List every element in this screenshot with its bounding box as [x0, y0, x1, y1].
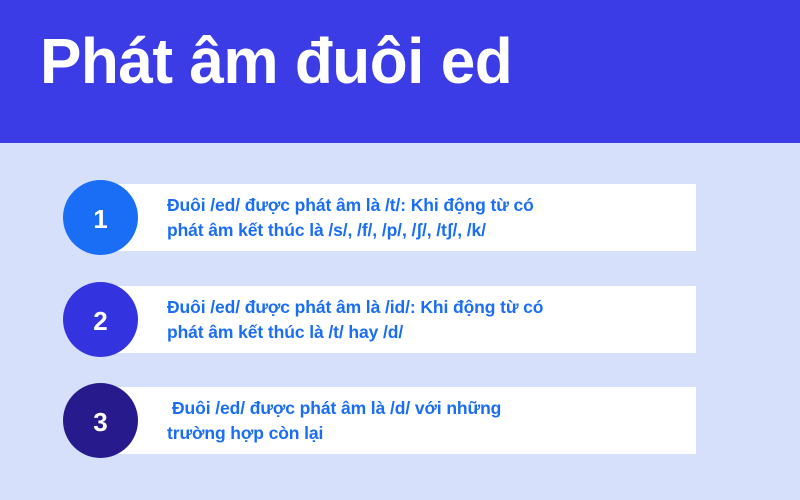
rule-card: Đuôi /ed/ được phát âm là /d/ với những …	[101, 387, 696, 454]
rule-card: Đuôi /ed/ được phát âm là /id/: Khi động…	[101, 286, 696, 353]
list-item: Đuôi /ed/ được phát âm là /d/ với những …	[0, 383, 800, 465]
page-title: Phát âm đuôi ed	[40, 26, 512, 96]
rule-number-badge: 1	[63, 180, 138, 255]
rule-number-badge: 3	[63, 383, 138, 458]
rule-text-line-1: Đuôi /ed/ được phát âm là /t/: Khi động …	[167, 193, 687, 218]
rule-text: Đuôi /ed/ được phát âm là /id/: Khi động…	[167, 295, 687, 345]
rule-number-badge: 2	[63, 282, 138, 357]
rules-list: Đuôi /ed/ được phát âm là /t/: Khi động …	[0, 143, 800, 500]
rule-text-line-1: Đuôi /ed/ được phát âm là /d/ với những	[167, 396, 687, 421]
header-banner: Phát âm đuôi ed	[0, 0, 800, 143]
rule-text-line-2: phát âm kết thúc là /s/, /f/, /p/, /ʃ/, …	[167, 218, 687, 243]
rule-text-line-2: phát âm kết thúc là /t/ hay /d/	[167, 320, 687, 345]
list-item: Đuôi /ed/ được phát âm là /id/: Khi động…	[0, 282, 800, 364]
rule-text-line-1: Đuôi /ed/ được phát âm là /id/: Khi động…	[167, 295, 687, 320]
rule-card: Đuôi /ed/ được phát âm là /t/: Khi động …	[101, 184, 696, 251]
rule-number: 3	[93, 409, 107, 435]
rule-number: 1	[93, 206, 107, 232]
rule-text: Đuôi /ed/ được phát âm là /t/: Khi động …	[167, 193, 687, 243]
rule-number: 2	[93, 308, 107, 334]
rule-text-line-2: trường hợp còn lại	[167, 421, 687, 446]
list-item: Đuôi /ed/ được phát âm là /t/: Khi động …	[0, 180, 800, 262]
rule-text: Đuôi /ed/ được phát âm là /d/ với những …	[167, 396, 687, 446]
infographic-root: Phát âm đuôi ed Đuôi /ed/ được phát âm l…	[0, 0, 800, 500]
